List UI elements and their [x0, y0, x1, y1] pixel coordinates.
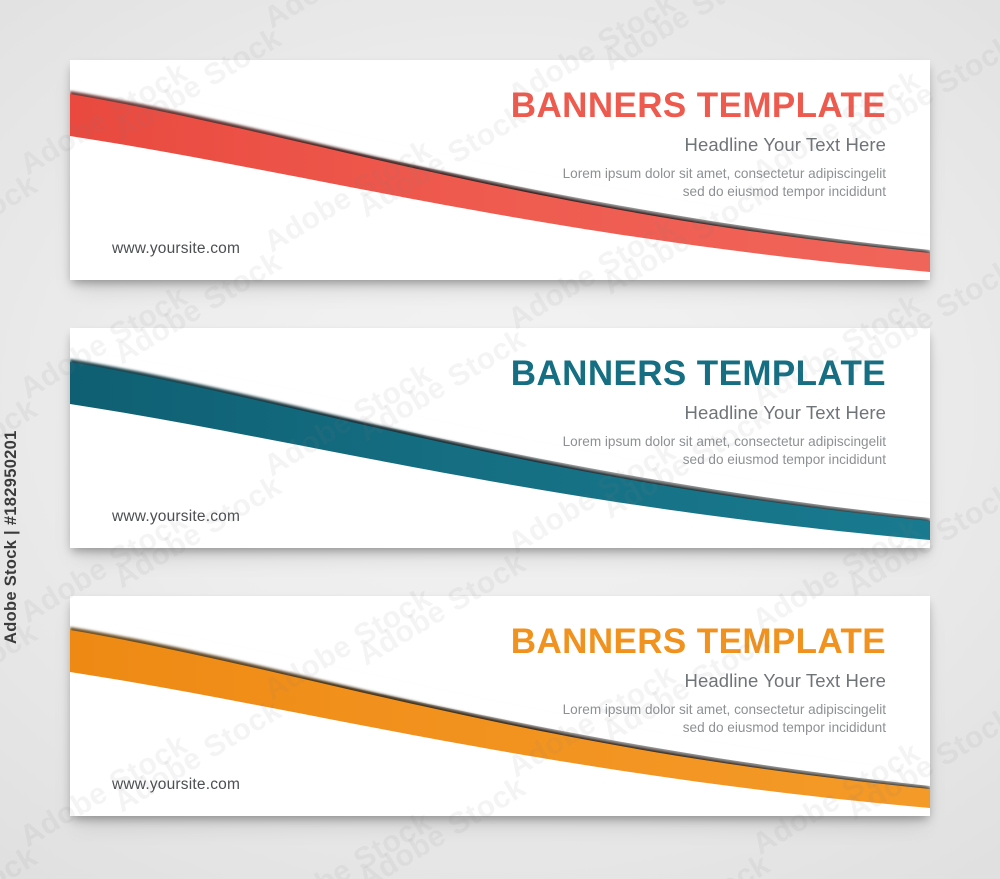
watermark-word: Adobe Stock	[0, 840, 44, 879]
stock-credit-label: Adobe Stock | #182950201	[2, 384, 21, 644]
banner-lorem-line-1: Lorem ipsum dolor sit amet, consectetur …	[511, 701, 886, 719]
banner-headline: Headline Your Text Here	[511, 134, 886, 156]
banner-headline: Headline Your Text Here	[511, 670, 886, 692]
banner-card-red[interactable]: BANNERS TEMPLATE Headline Your Text Here…	[70, 60, 930, 280]
banner-website-url[interactable]: www.yoursite.com	[112, 508, 240, 526]
banner-card-teal[interactable]: BANNERS TEMPLATE Headline Your Text Here…	[70, 328, 930, 548]
watermark-word: Adobe Stock	[991, 0, 1000, 44]
watermark-word: Adobe Stock	[991, 141, 1000, 267]
banner-lorem-line-2: sed do eiusmod tempor incididunt	[511, 451, 886, 469]
banner-lorem-line-2: sed do eiusmod tempor incididunt	[511, 183, 886, 201]
banner-lorem-line-1: Lorem ipsum dolor sit amet, consectetur …	[511, 165, 886, 183]
banner-headline: Headline Your Text Here	[511, 402, 886, 424]
watermark-word: Adobe Stock	[597, 848, 776, 879]
canvas: BANNERS TEMPLATE Headline Your Text Here…	[0, 0, 1000, 879]
banner-copy-red: BANNERS TEMPLATE Headline Your Text Here…	[511, 88, 886, 201]
watermark-word: Adobe Stock	[258, 0, 437, 36]
banner-lorem: Lorem ipsum dolor sit amet, consectetur …	[511, 165, 886, 202]
watermark-word: Adobe Stock	[991, 365, 1000, 491]
banner-title: BANNERS TEMPLATE	[511, 624, 886, 661]
banner-lorem-line-2: sed do eiusmod tempor incididunt	[511, 719, 886, 737]
watermark-word: Adobe Stock	[353, 0, 532, 1]
watermark-word: Adobe Stock	[258, 805, 437, 879]
banner-card-orange[interactable]: BANNERS TEMPLATE Headline Your Text Here…	[70, 596, 930, 816]
banner-title: BANNERS TEMPLATE	[511, 356, 886, 393]
watermark-word: Adobe Stock	[991, 813, 1000, 879]
banner-copy-teal: BANNERS TEMPLATE Headline Your Text Here…	[511, 356, 886, 469]
banner-lorem: Lorem ipsum dolor sit amet, consectetur …	[511, 701, 886, 738]
banner-lorem-line-1: Lorem ipsum dolor sit amet, consectetur …	[511, 433, 886, 451]
banner-title: BANNERS TEMPLATE	[511, 88, 886, 125]
banner-website-url[interactable]: www.yoursite.com	[112, 240, 240, 258]
banner-lorem: Lorem ipsum dolor sit amet, consectetur …	[511, 433, 886, 470]
watermark-word: Adobe Stock	[991, 589, 1000, 715]
watermark-word: Adobe Stock	[0, 168, 44, 294]
banner-copy-orange: BANNERS TEMPLATE Headline Your Text Here…	[511, 624, 886, 737]
banner-website-url[interactable]: www.yoursite.com	[112, 776, 240, 794]
watermark-word: Adobe Stock	[0, 0, 44, 70]
